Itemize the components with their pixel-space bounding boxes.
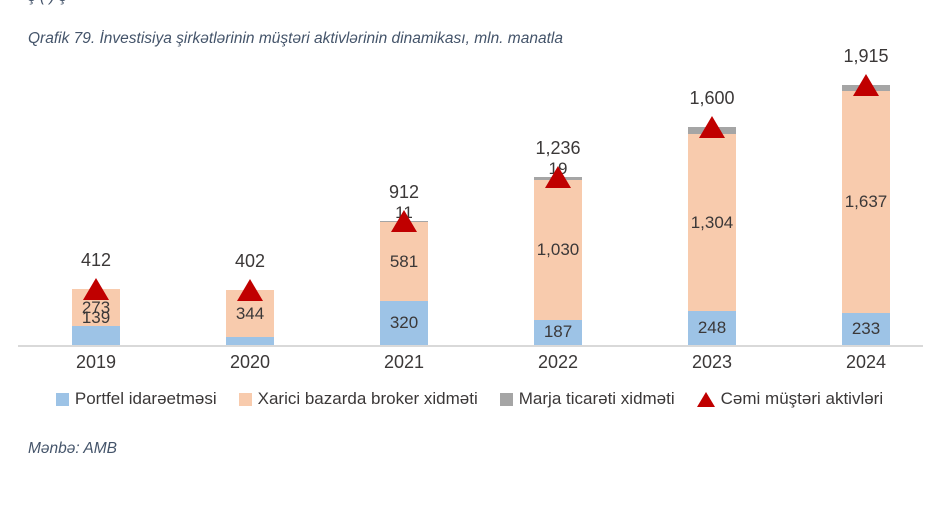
bar-segment[interactable]: 1,030 — [534, 180, 582, 320]
segment-value-label: 1,030 — [534, 240, 582, 260]
legend-item[interactable]: Xarici bazarda broker xidməti — [239, 389, 478, 409]
legend-triangle-icon — [697, 392, 715, 407]
x-axis-tick-2020: 2020 — [195, 352, 305, 373]
bar-segment[interactable]: 1,304 — [688, 134, 736, 311]
total-marker-triangle-icon — [545, 166, 571, 188]
total-value-label: 912 — [364, 182, 444, 203]
bar-segment[interactable]: 139 — [72, 326, 120, 345]
segment-value-label: 273 — [72, 298, 120, 318]
x-axis-tick-2022: 2022 — [503, 352, 613, 373]
bar-segment[interactable]: 233 — [842, 313, 890, 345]
bar-group[interactable]: 11581320912 — [380, 221, 428, 345]
x-axis-tick-2021: 2021 — [349, 352, 459, 373]
bar-segment[interactable]: 1,637 — [842, 91, 890, 314]
bar-group[interactable]: 273139412 — [72, 289, 120, 345]
legend-swatch-icon — [56, 393, 69, 406]
total-marker-triangle-icon — [83, 278, 109, 300]
x-axis-tick-2024: 2024 — [811, 352, 921, 373]
total-marker-triangle-icon — [853, 74, 879, 96]
bar-group[interactable]: 1,3042481,600 — [688, 127, 736, 345]
chart-legend: Portfel idarəetməsiXarici bazarda broker… — [0, 389, 939, 409]
x-axis-tick-2023: 2023 — [657, 352, 767, 373]
bar-group[interactable]: 191,0301871,236 — [534, 177, 582, 345]
segment-value-label: 344 — [226, 304, 274, 324]
x-axis-baseline — [18, 345, 923, 347]
segment-value-label: 233 — [842, 319, 890, 339]
total-value-label: 412 — [56, 250, 136, 271]
x-axis-tick-2019: 2019 — [41, 352, 151, 373]
bar-segment[interactable] — [226, 337, 274, 345]
legend-label: Xarici bazarda broker xidməti — [258, 389, 478, 409]
legend-item[interactable]: Portfel idarəetməsi — [56, 389, 217, 409]
total-value-label: 402 — [210, 251, 290, 272]
total-marker-triangle-icon — [237, 279, 263, 301]
bar-segment[interactable]: 187 — [534, 320, 582, 345]
legend-swatch-icon — [239, 393, 252, 406]
segment-value-label: 1,637 — [842, 192, 890, 212]
total-marker-triangle-icon — [699, 116, 725, 138]
clipped-text-above: ş ( ) ş — [28, 0, 908, 8]
source-note: Mənbə: AMB — [28, 440, 117, 458]
legend-label: Cəmi müştəri aktivləri — [721, 389, 883, 409]
bar-group[interactable]: 344402 — [226, 290, 274, 345]
legend-label: Marja ticarəti xidməti — [519, 389, 675, 409]
segment-value-label: 320 — [380, 313, 428, 333]
total-value-label: 1,236 — [518, 138, 598, 159]
bar-segment[interactable]: 248 — [688, 311, 736, 345]
legend-swatch-icon — [500, 393, 513, 406]
bar-segment[interactable]: 320 — [380, 301, 428, 345]
total-value-label: 1,915 — [826, 46, 906, 67]
bar-group[interactable]: 1,6372331,915 — [842, 85, 890, 345]
bar-segment[interactable]: 581 — [380, 222, 428, 301]
legend-label: Portfel idarəetməsi — [75, 389, 217, 409]
chart-title: Qrafik 79. İnvestisiya şirkətlərinin müş… — [28, 30, 563, 48]
legend-item[interactable]: Cəmi müştəri aktivləri — [697, 389, 883, 409]
segment-value-label: 1,304 — [688, 213, 736, 233]
segment-value-label: 248 — [688, 318, 736, 338]
total-value-label: 1,600 — [672, 88, 752, 109]
total-marker-triangle-icon — [391, 210, 417, 232]
legend-item[interactable]: Marja ticarəti xidməti — [500, 389, 675, 409]
segment-value-label: 581 — [380, 252, 428, 272]
x-axis-labels: 201920202021202220232024 — [0, 352, 939, 378]
plot-area: 27313941234440211581320912191,0301871,23… — [0, 70, 939, 348]
segment-value-label: 187 — [534, 322, 582, 342]
